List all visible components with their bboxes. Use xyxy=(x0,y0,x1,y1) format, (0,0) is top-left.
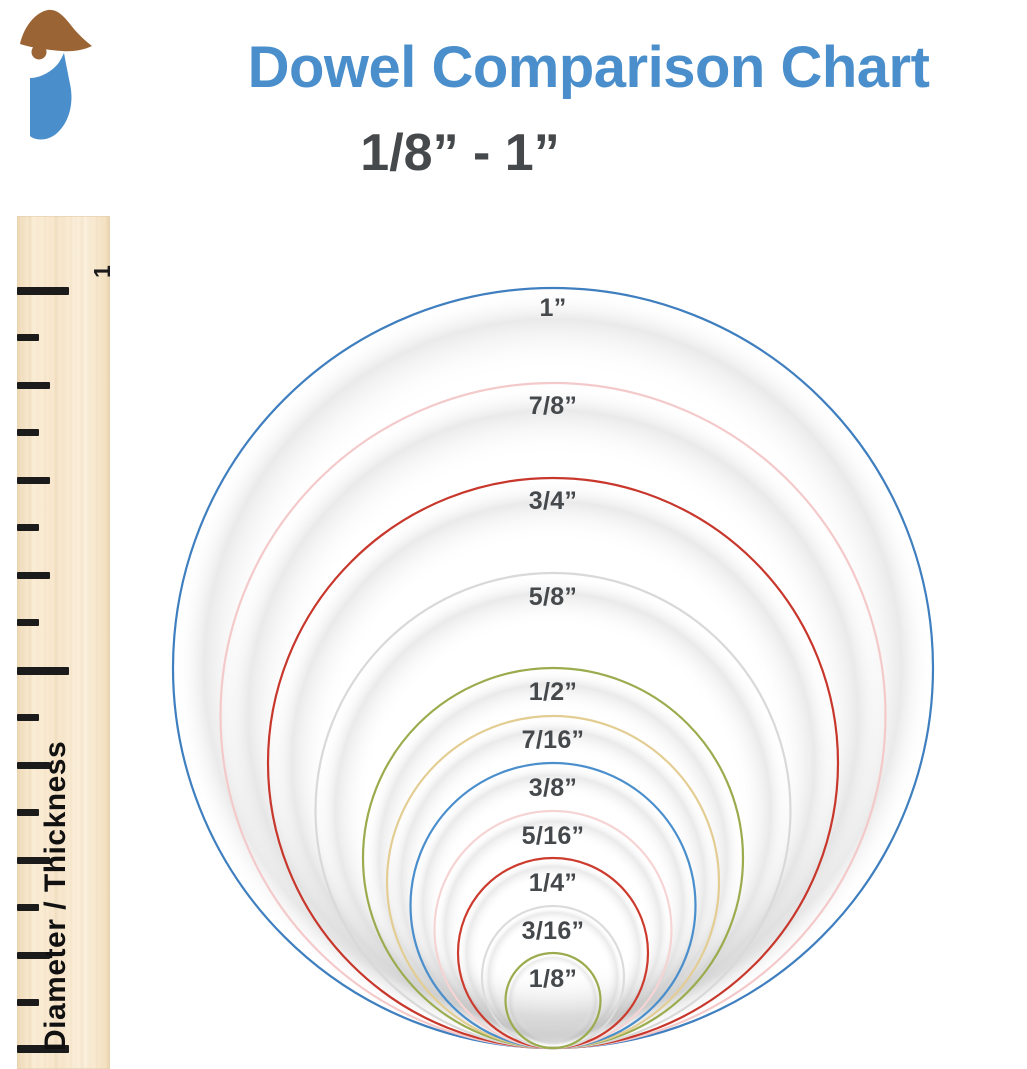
dowel-label-0.75: 3/4” xyxy=(529,487,577,516)
dowel-label-0.875: 7/8” xyxy=(529,392,577,421)
dowel-label-0.5: 1/2” xyxy=(529,678,577,707)
dowel-label-0.3125: 5/16” xyxy=(522,822,585,851)
dowel-label-0.625: 5/8” xyxy=(529,583,577,612)
dowel-label-0.25: 1/4” xyxy=(529,869,577,898)
dowel-circle-group: 1”7/8”3/4”5/8”1/2”7/16”3/8”5/16”1/4”3/16… xyxy=(0,0,1027,1069)
dowel-label-0.4375: 7/16” xyxy=(522,726,585,755)
dowel-comparison-chart-page: Dowel Comparison Chart 1/8” - 1” 1 Diame… xyxy=(0,0,1027,1069)
dowel-label-1: 1” xyxy=(539,294,566,323)
dowel-label-0.125: 1/8” xyxy=(529,965,577,994)
dowel-label-0.375: 3/8” xyxy=(529,774,577,803)
dowel-label-0.1875: 3/16” xyxy=(522,917,585,946)
dowel-circle-svg xyxy=(0,0,1027,1069)
